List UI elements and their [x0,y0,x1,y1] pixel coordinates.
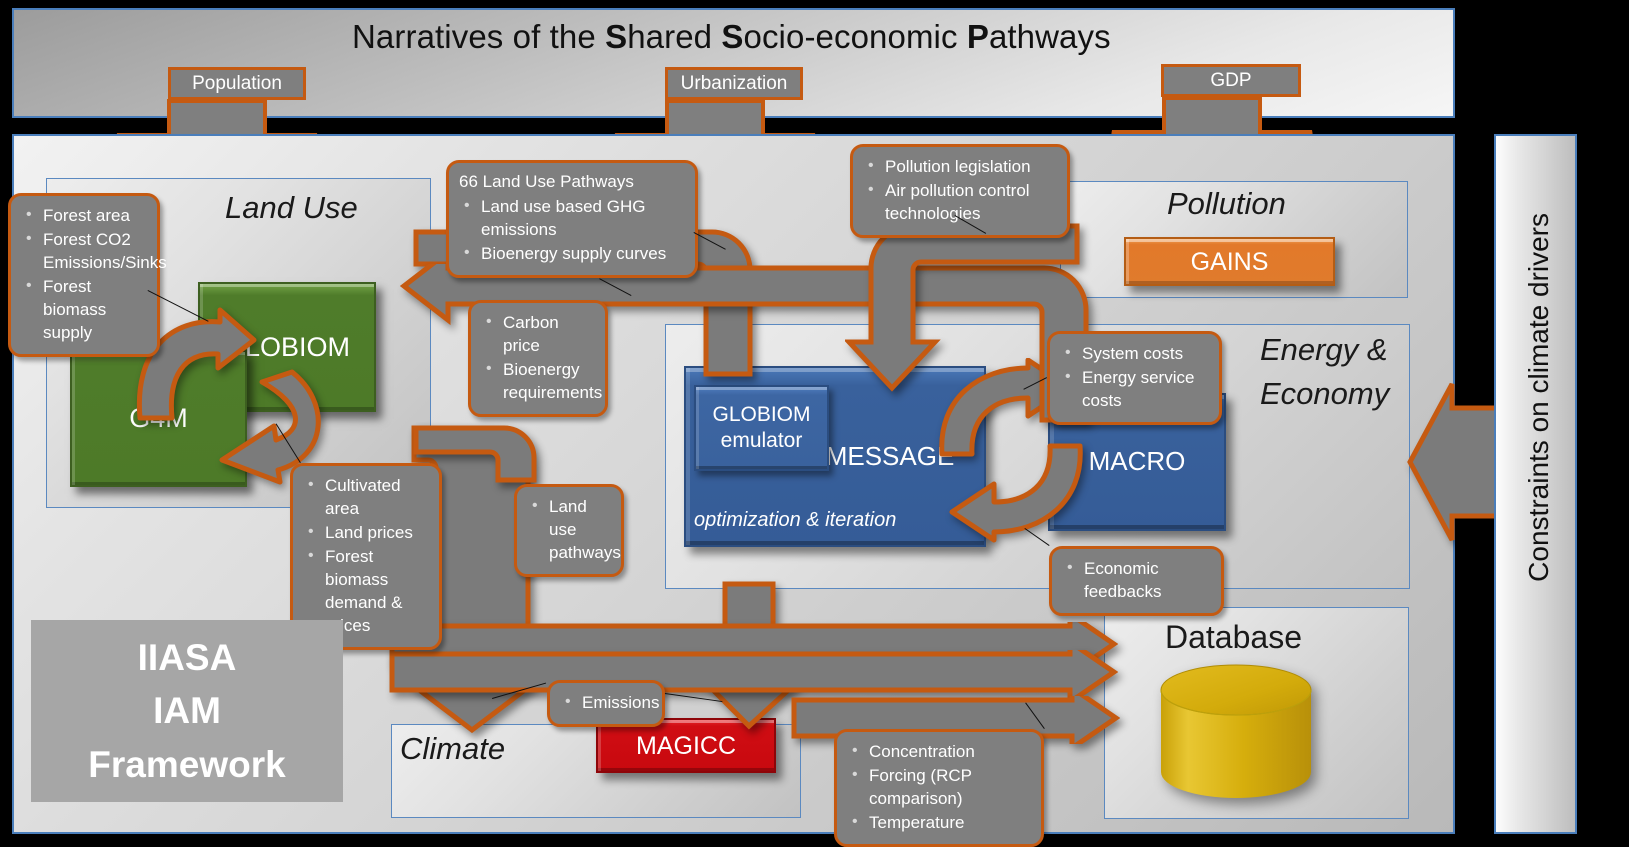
callout-item: Energy service costs [1082,367,1207,413]
constraints-strip-label: Constraints on climate drivers [1523,213,1555,582]
callout-system-costs: System costs Energy service costs [1047,331,1222,425]
callout-item: Forest biomass supply [43,276,145,345]
callout-header: 66 Land Use Pathways [459,171,683,194]
framework-label: IIASA IAM Framework [31,620,343,802]
climate-title: Climate [400,731,505,767]
database-cylinder-icon [1157,664,1315,799]
callout-item: Forest area [43,205,145,228]
callout-pollution-inputs: Pollution legislation Air pollution cont… [850,144,1070,238]
callout-climate-outputs: Concentration Forcing (RCP comparison) T… [834,729,1044,847]
database-title: Database [1165,619,1302,656]
land-use-title: Land Use [225,190,358,226]
energy-economy-title-line2: Economy [1260,376,1389,412]
model-gains[interactable]: GAINS [1124,237,1335,286]
callout-item: Emissions [582,692,650,715]
diagram-canvas: Narratives of the Shared Socio-economic … [0,0,1629,841]
callout-item: Concentration [869,741,1029,764]
callout-item: System costs [1082,343,1207,366]
framework-label-line3: Framework [88,738,285,792]
callout-item: Pollution legislation [885,156,1055,179]
callout-item: Economic feedbacks [1084,558,1209,604]
callout-item: Air pollution control technologies [885,180,1055,226]
driver-urbanization[interactable]: Urbanization [665,67,803,100]
callout-item: Land use based GHG emissions [481,196,683,242]
callout-item: Bioenergy requirements [503,359,593,405]
globiom-emulator-line2: emulator [721,428,803,454]
flow-pollution-to-message [845,222,1081,392]
driver-gdp[interactable]: GDP [1161,64,1301,97]
callout-item: Bioenergy supply curves [481,243,683,266]
driver-population[interactable]: Population [168,67,306,100]
message-footnote: optimization & iteration [694,509,896,532]
callout-item: Carbon price [503,312,593,358]
callout-item: Forest CO2 Emissions/Sinks [43,229,145,275]
framework-label-line2: IAM [153,684,221,738]
callout-item: Cultivated area [325,475,427,521]
callout-item: Land use pathways [549,496,609,565]
callout-economic-feedbacks: Economic feedbacks [1049,546,1224,616]
framework-label-line1: IIASA [138,631,237,685]
energy-economy-title-line1: Energy & [1260,332,1388,368]
flow-to-database-rail-2 [388,650,1118,698]
arrow-macro-to-message [930,440,1115,550]
callout-land-use-pathways: 66 Land Use Pathways Land use based GHG … [446,160,698,278]
callout-emissions: Emissions [547,680,665,727]
callout-carbon-price: Carbon price Bioenergy requirements [468,300,608,417]
page-title: Narratives of the Shared Socio-economic … [352,18,1111,56]
callout-forest-outputs: Forest area Forest CO2 Emissions/Sinks F… [8,193,160,357]
callout-item: Forcing (RCP comparison) [869,765,1029,811]
callout-item: Temperature [869,812,1029,835]
pollution-title: Pollution [1167,186,1286,222]
callout-land-use-pathways-small: Land use pathways [514,484,624,577]
callout-item: Land prices [325,522,427,545]
